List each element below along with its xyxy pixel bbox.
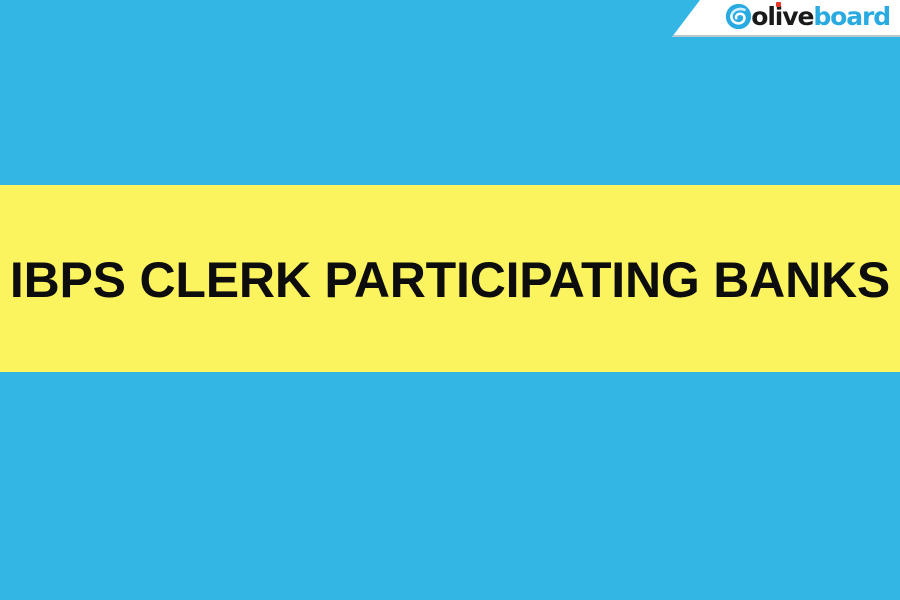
brand-wordmark: oliveboard xyxy=(751,4,890,29)
poster-canvas: IBPS CLERK PARTICIPATING BANKS oliveboar… xyxy=(0,0,900,600)
oliveboard-swirl-icon xyxy=(725,3,752,30)
headline-band: IBPS CLERK PARTICIPATING BANKS xyxy=(0,185,900,372)
bottom-color-band xyxy=(0,372,900,600)
brand-lockup[interactable]: oliveboard xyxy=(725,3,890,30)
brand-accent-dot-icon xyxy=(776,2,781,7)
page-title: IBPS CLERK PARTICIPATING BANKS xyxy=(10,255,890,305)
brand-banner: oliveboard xyxy=(672,0,900,37)
brand-wordmark-board: board xyxy=(813,2,890,31)
brand-wordmark-olive: olive xyxy=(751,2,813,31)
